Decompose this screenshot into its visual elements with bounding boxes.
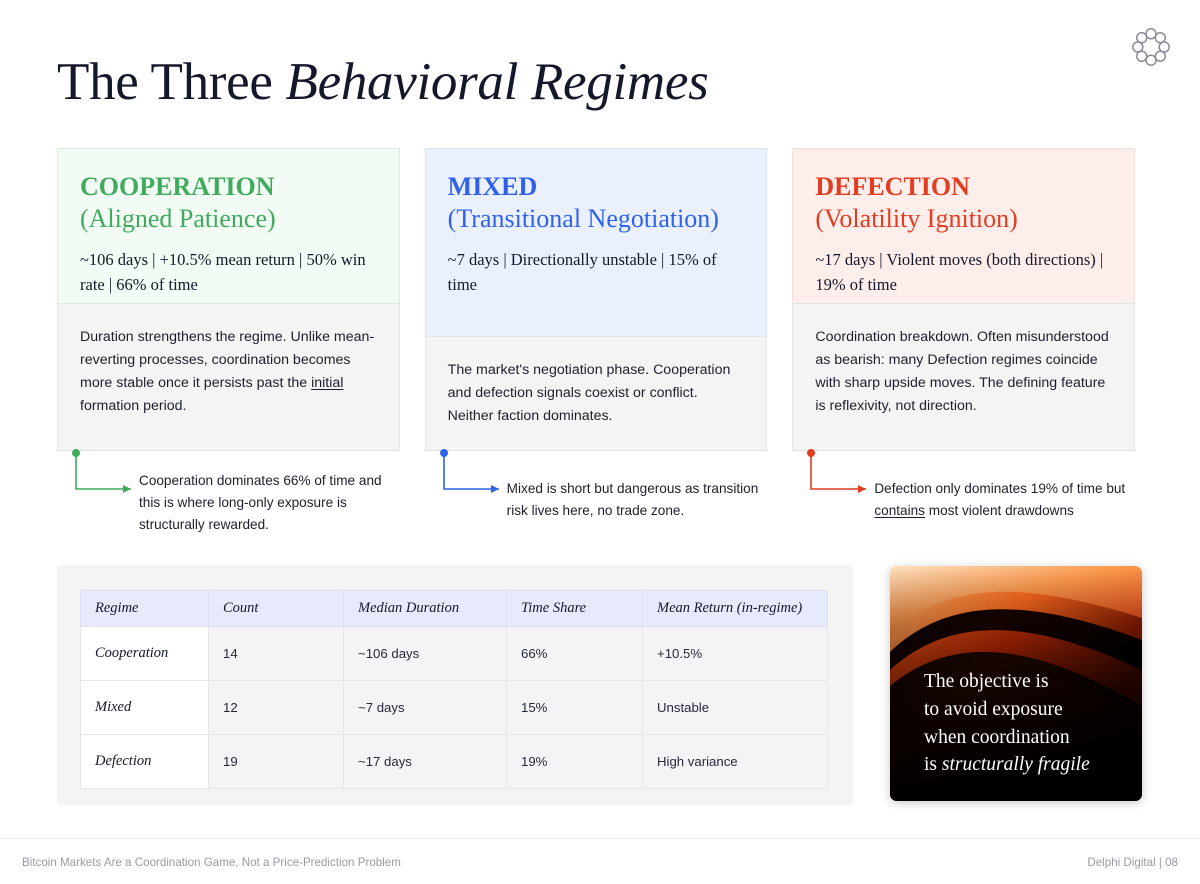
card-body-defection: Coordination breakdown. Often misunderst… bbox=[792, 303, 1135, 451]
callout-text-before: Defection only dominates 19% of time but bbox=[874, 481, 1125, 496]
delphi-ring-logo bbox=[1130, 26, 1172, 68]
cell-regime: Defection bbox=[81, 735, 209, 789]
footer-brand-and-page: Delphi Digital | 08 bbox=[1087, 856, 1178, 869]
regime-card-cooperation: COOPERATION (Aligned Patience) ~106 days… bbox=[57, 148, 400, 451]
quote-image-card: The objective is to avoid exposure when … bbox=[890, 566, 1142, 801]
cell-time-share: 66% bbox=[507, 627, 643, 681]
table-header-row: Regime Count Median Duration Time Share … bbox=[81, 591, 828, 627]
regime-cards: COOPERATION (Aligned Patience) ~106 days… bbox=[57, 148, 1135, 451]
cell-duration: ~7 days bbox=[344, 681, 507, 735]
card-title-main: MIXED bbox=[448, 172, 538, 201]
table-row: Defection 19 ~17 days 19% High variance bbox=[81, 735, 828, 789]
callout-text-after: most violent drawdowns bbox=[925, 503, 1074, 518]
regime-card-defection: DEFECTION (Volatility Ignition) ~17 days… bbox=[792, 148, 1135, 451]
card-body-text-after: formation period. bbox=[80, 398, 186, 414]
quote-line-3: when coordination bbox=[924, 727, 1070, 748]
callout-cooperation: Cooperation dominates 66% of time and th… bbox=[57, 448, 400, 543]
callout-defection: Defection only dominates 19% of time but… bbox=[792, 448, 1135, 543]
page-title: The Three Behavioral Regimes bbox=[57, 52, 708, 113]
quote-line-2: to avoid exposure bbox=[924, 699, 1063, 720]
table-row: Cooperation 14 ~106 days 66% +10.5% bbox=[81, 627, 828, 681]
card-title-main: DEFECTION bbox=[815, 172, 970, 201]
card-body-text: The market's negotiation phase. Cooperat… bbox=[448, 362, 731, 424]
card-body-cooperation: Duration strengthens the regime. Unlike … bbox=[57, 303, 400, 451]
cell-count: 14 bbox=[209, 627, 344, 681]
page-title-italic: Behavioral Regimes bbox=[286, 53, 709, 111]
column-header-count: Count bbox=[209, 591, 344, 627]
column-header-duration: Median Duration bbox=[344, 591, 507, 627]
cell-count: 19 bbox=[209, 735, 344, 789]
card-title-defection: DEFECTION (Volatility Ignition) bbox=[815, 171, 1112, 234]
quote-line-4-regular: is bbox=[924, 754, 942, 775]
card-body-underlined: initial bbox=[311, 375, 343, 391]
callout-annotations: Cooperation dominates 66% of time and th… bbox=[57, 448, 1135, 543]
callout-text-before: Cooperation dominates 66% of time and th… bbox=[139, 473, 382, 532]
cell-time-share: 15% bbox=[507, 681, 643, 735]
cell-mean-return: +10.5% bbox=[643, 627, 828, 681]
callout-text-underlined: contains bbox=[874, 503, 925, 518]
card-body-mixed: The market's negotiation phase. Cooperat… bbox=[425, 336, 768, 451]
card-title-mixed: MIXED (Transitional Negotiation) bbox=[448, 171, 745, 234]
page-title-regular: The Three bbox=[57, 53, 286, 111]
cell-regime: Mixed bbox=[81, 681, 209, 735]
callout-text-before: Mixed is short but dangerous as transiti… bbox=[507, 481, 759, 518]
cell-mean-return: High variance bbox=[643, 735, 828, 789]
card-title-sub: (Transitional Negotiation) bbox=[448, 204, 719, 233]
card-stats-cooperation: ~106 days | +10.5% mean return | 50% win… bbox=[80, 248, 377, 298]
card-title-sub: (Volatility Ignition) bbox=[815, 204, 1017, 233]
quote-text: The objective is to avoid exposure when … bbox=[924, 668, 1090, 779]
quote-line-1: The objective is bbox=[924, 671, 1049, 692]
card-stats-defection: ~17 days | Violent moves (both direction… bbox=[815, 248, 1112, 298]
cell-time-share: 19% bbox=[507, 735, 643, 789]
quote-line-4-italic: structurally fragile bbox=[942, 754, 1090, 775]
table-row: Mixed 12 ~7 days 15% Unstable bbox=[81, 681, 828, 735]
card-header-defection: DEFECTION (Volatility Ignition) ~17 days… bbox=[792, 148, 1135, 303]
card-title-cooperation: COOPERATION (Aligned Patience) bbox=[80, 171, 377, 234]
column-header-regime: Regime bbox=[81, 591, 209, 627]
callout-text-defection: Defection only dominates 19% of time but… bbox=[874, 478, 1136, 522]
card-body-text: Coordination breakdown. Often misunderst… bbox=[815, 329, 1108, 414]
cell-regime: Cooperation bbox=[81, 627, 209, 681]
callout-text-mixed: Mixed is short but dangerous as transiti… bbox=[507, 478, 769, 522]
regime-card-mixed: MIXED (Transitional Negotiation) ~7 days… bbox=[425, 148, 768, 451]
cell-mean-return: Unstable bbox=[643, 681, 828, 735]
card-title-main: COOPERATION bbox=[80, 172, 275, 201]
card-title-sub: (Aligned Patience) bbox=[80, 204, 276, 233]
callout-mixed: Mixed is short but dangerous as transiti… bbox=[425, 448, 768, 543]
card-header-cooperation: COOPERATION (Aligned Patience) ~106 days… bbox=[57, 148, 400, 303]
callout-text-cooperation: Cooperation dominates 66% of time and th… bbox=[139, 470, 401, 536]
card-stats-mixed: ~7 days | Directionally unstable | 15% o… bbox=[448, 248, 745, 298]
regime-summary-table: Regime Count Median Duration Time Share … bbox=[80, 590, 827, 789]
cell-duration: ~106 days bbox=[344, 627, 507, 681]
card-header-mixed: MIXED (Transitional Negotiation) ~7 days… bbox=[425, 148, 768, 336]
column-header-time-share: Time Share bbox=[507, 591, 643, 627]
column-header-mean-return: Mean Return (in-regime) bbox=[643, 591, 828, 627]
footer-divider bbox=[0, 838, 1200, 839]
footer-document-title: Bitcoin Markets Are a Coordination Game,… bbox=[22, 856, 401, 869]
cell-count: 12 bbox=[209, 681, 344, 735]
cell-duration: ~17 days bbox=[344, 735, 507, 789]
